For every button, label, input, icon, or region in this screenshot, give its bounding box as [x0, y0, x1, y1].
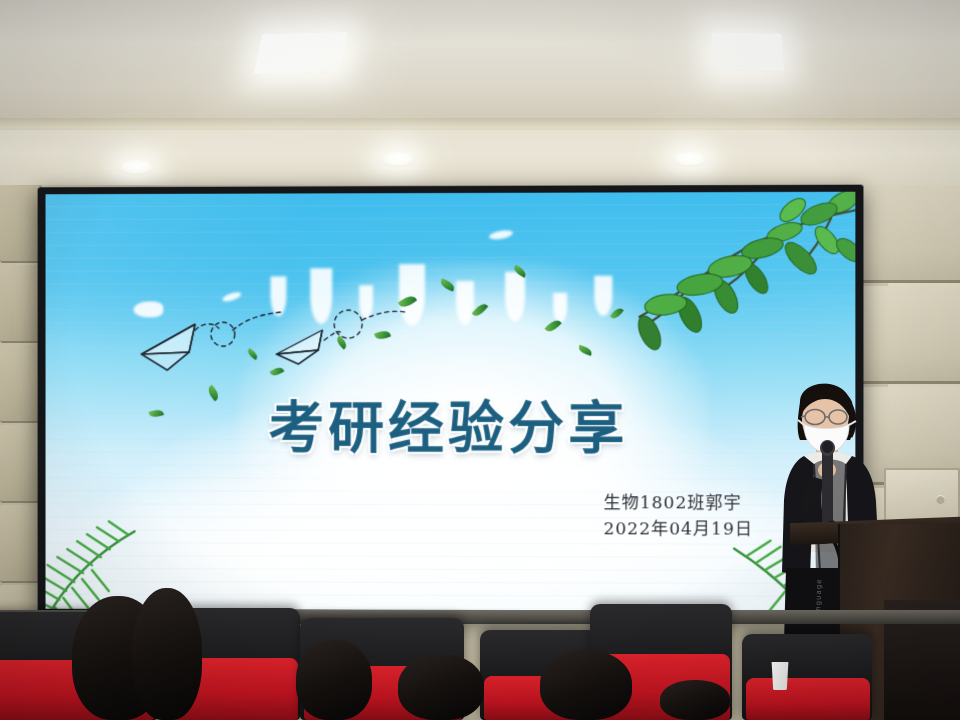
downlight-1-icon — [118, 160, 154, 175]
ceiling — [0, 0, 960, 124]
cloud-drip — [505, 272, 525, 322]
left-wall-panels — [0, 185, 42, 655]
downlight-2-icon — [380, 152, 416, 167]
auditorium-seat-cushion — [746, 678, 870, 720]
audience-head — [132, 588, 202, 720]
cloud-drip — [456, 281, 474, 325]
palm-frond-left-icon — [46, 470, 169, 612]
presentation-screen-bezel: 考研经验分享 生物1802班郭宇 2022年04月19日 — [38, 185, 864, 618]
panel-light-left-icon — [254, 32, 349, 74]
presentation-slide[interactable]: 考研经验分享 生物1802班郭宇 2022年04月19日 — [46, 192, 856, 612]
audience-head — [296, 640, 372, 720]
paper-cup — [770, 662, 790, 690]
lecture-hall-photo: 考研经验分享 生物1802班郭宇 2022年04月19日 — [0, 0, 960, 720]
wall-knob-icon — [936, 495, 945, 504]
slide-subtitle-line-2: 2022年04月19日 — [604, 517, 754, 543]
paper-airplane-left-icon — [138, 308, 287, 378]
panel-light-right-icon — [711, 32, 784, 71]
leaf-branch-decoration — [529, 192, 855, 389]
slide-subtitle-line-1: 生物1802班郭宇 — [604, 491, 754, 517]
audience-head — [540, 650, 632, 720]
slide-subtitle: 生物1802班郭宇 2022年04月19日 — [604, 491, 754, 542]
slide-title: 考研经验分享 — [46, 383, 856, 464]
audience-head — [398, 654, 484, 720]
audience-head — [660, 680, 730, 720]
downlight-3-icon — [672, 152, 708, 167]
